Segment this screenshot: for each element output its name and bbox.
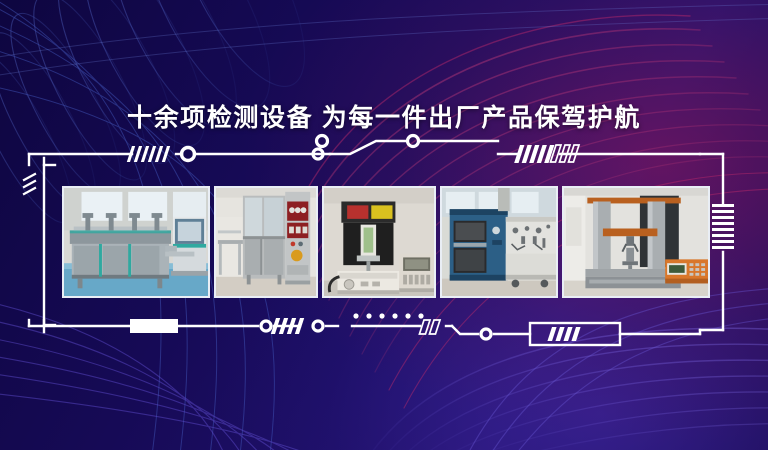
circuit-boxed-element xyxy=(530,323,620,345)
banner-title: 十余项检测设备 为每一件出厂产品保驾护航 xyxy=(0,98,768,134)
photo-blue-oven-chamber[interactable] xyxy=(440,186,558,298)
left-frame-bracket xyxy=(44,158,55,332)
photo-steel-cabinet-tester[interactable] xyxy=(214,186,318,298)
equipment-photo-strip xyxy=(62,186,706,298)
circuit-dots xyxy=(353,313,423,318)
bottom-circuit-trace xyxy=(29,320,700,334)
banner-root: 十余项检测设备 为每一件出厂产品保驾护航 xyxy=(0,0,768,450)
right-hatch-marks xyxy=(712,204,734,249)
top-circuit-trace xyxy=(29,141,700,165)
left-hatch-marks xyxy=(24,174,35,194)
photo-inspection-line[interactable] xyxy=(62,186,210,298)
photo-tensile-testing-machine[interactable] xyxy=(562,186,710,298)
circuit-resistor xyxy=(130,319,178,333)
photo-benchtop-tester[interactable] xyxy=(322,186,436,298)
